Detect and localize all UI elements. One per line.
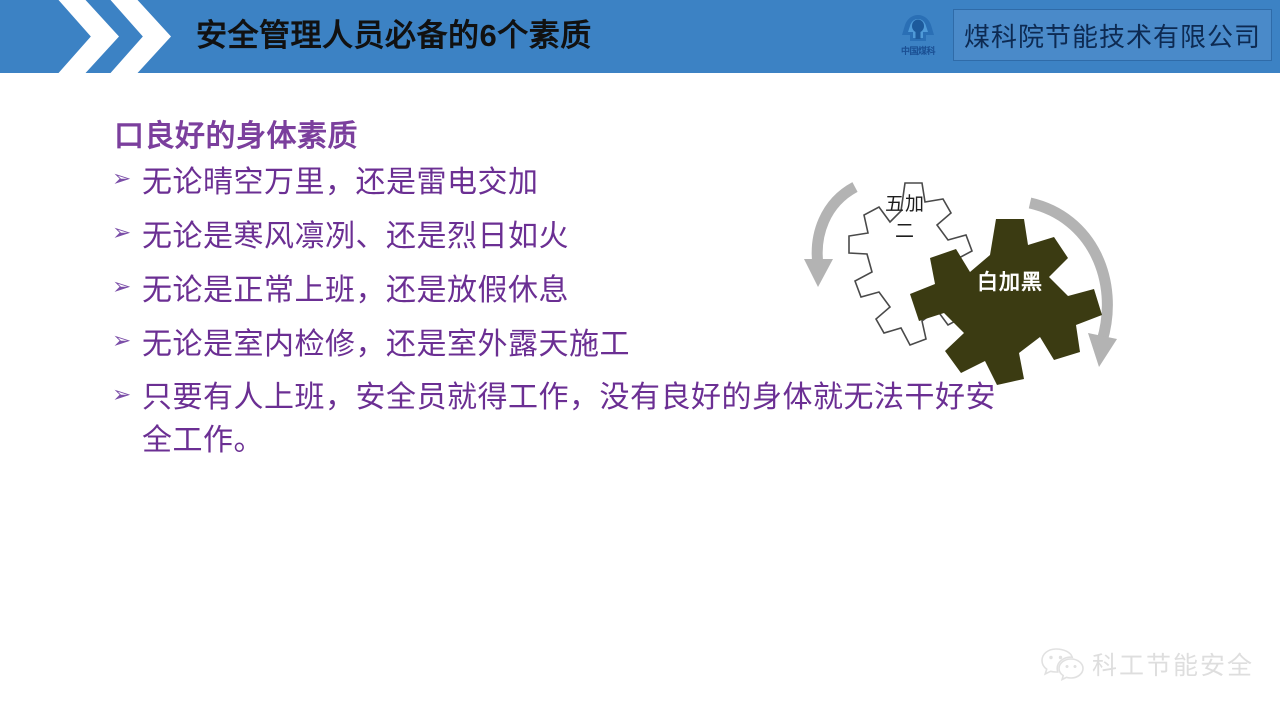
brand-logo: 中国煤科 [889, 6, 947, 64]
light-gear-label-line1: 五加 [857, 191, 953, 218]
brand-block: 中国煤科 煤科院节能技术有限公司 [889, 4, 1272, 66]
light-gear-label-line2: 二 [857, 218, 953, 245]
double-chevron-right-icon [55, 0, 119, 77]
company-name-box: 煤科院节能技术有限公司 [953, 9, 1272, 61]
section-heading-marker: 口 [114, 120, 145, 153]
two-gears-diagram: 五加 二 白加黑 [800, 161, 1130, 421]
slide-canvas: 安全管理人员必备的6个素质 中国煤科 煤科院节能技术有限公司 口良好的身体素质 [0, 0, 1280, 720]
slide-header: 安全管理人员必备的6个素质 中国煤科 煤科院节能技术有限公司 [0, 0, 1280, 73]
arrow-bullet-icon: ➢ [112, 376, 142, 406]
arrow-bullet-icon: ➢ [112, 160, 142, 190]
slide-body: 口良好的身体素质 ➢ 无论晴空万里，还是雷电交加 ➢ 无论是寒风凛冽、还是烈日如… [0, 73, 1280, 720]
section-heading: 口良好的身体素质 [114, 111, 358, 155]
company-name: 煤科院节能技术有限公司 [964, 17, 1261, 54]
arrow-bullet-icon: ➢ [112, 322, 142, 352]
arrow-bullet-icon: ➢ [112, 268, 142, 298]
wechat-icon [1040, 646, 1084, 682]
watermark-text: 科工节能安全 [1092, 646, 1254, 682]
brand-logo-text: 中国煤科 [901, 46, 935, 57]
watermark: 科工节能安全 [1040, 646, 1254, 682]
light-gear-label: 五加 二 [857, 191, 953, 245]
arrow-bullet-icon: ➢ [112, 214, 142, 244]
china-coal-science-emblem-icon [897, 13, 939, 45]
left-rotation-arrow-icon [804, 187, 855, 287]
dark-gear-label: 白加黑 [945, 266, 1075, 296]
page-title: 安全管理人员必备的6个素质 [196, 8, 592, 64]
section-heading-text: 良好的身体素质 [145, 120, 359, 153]
